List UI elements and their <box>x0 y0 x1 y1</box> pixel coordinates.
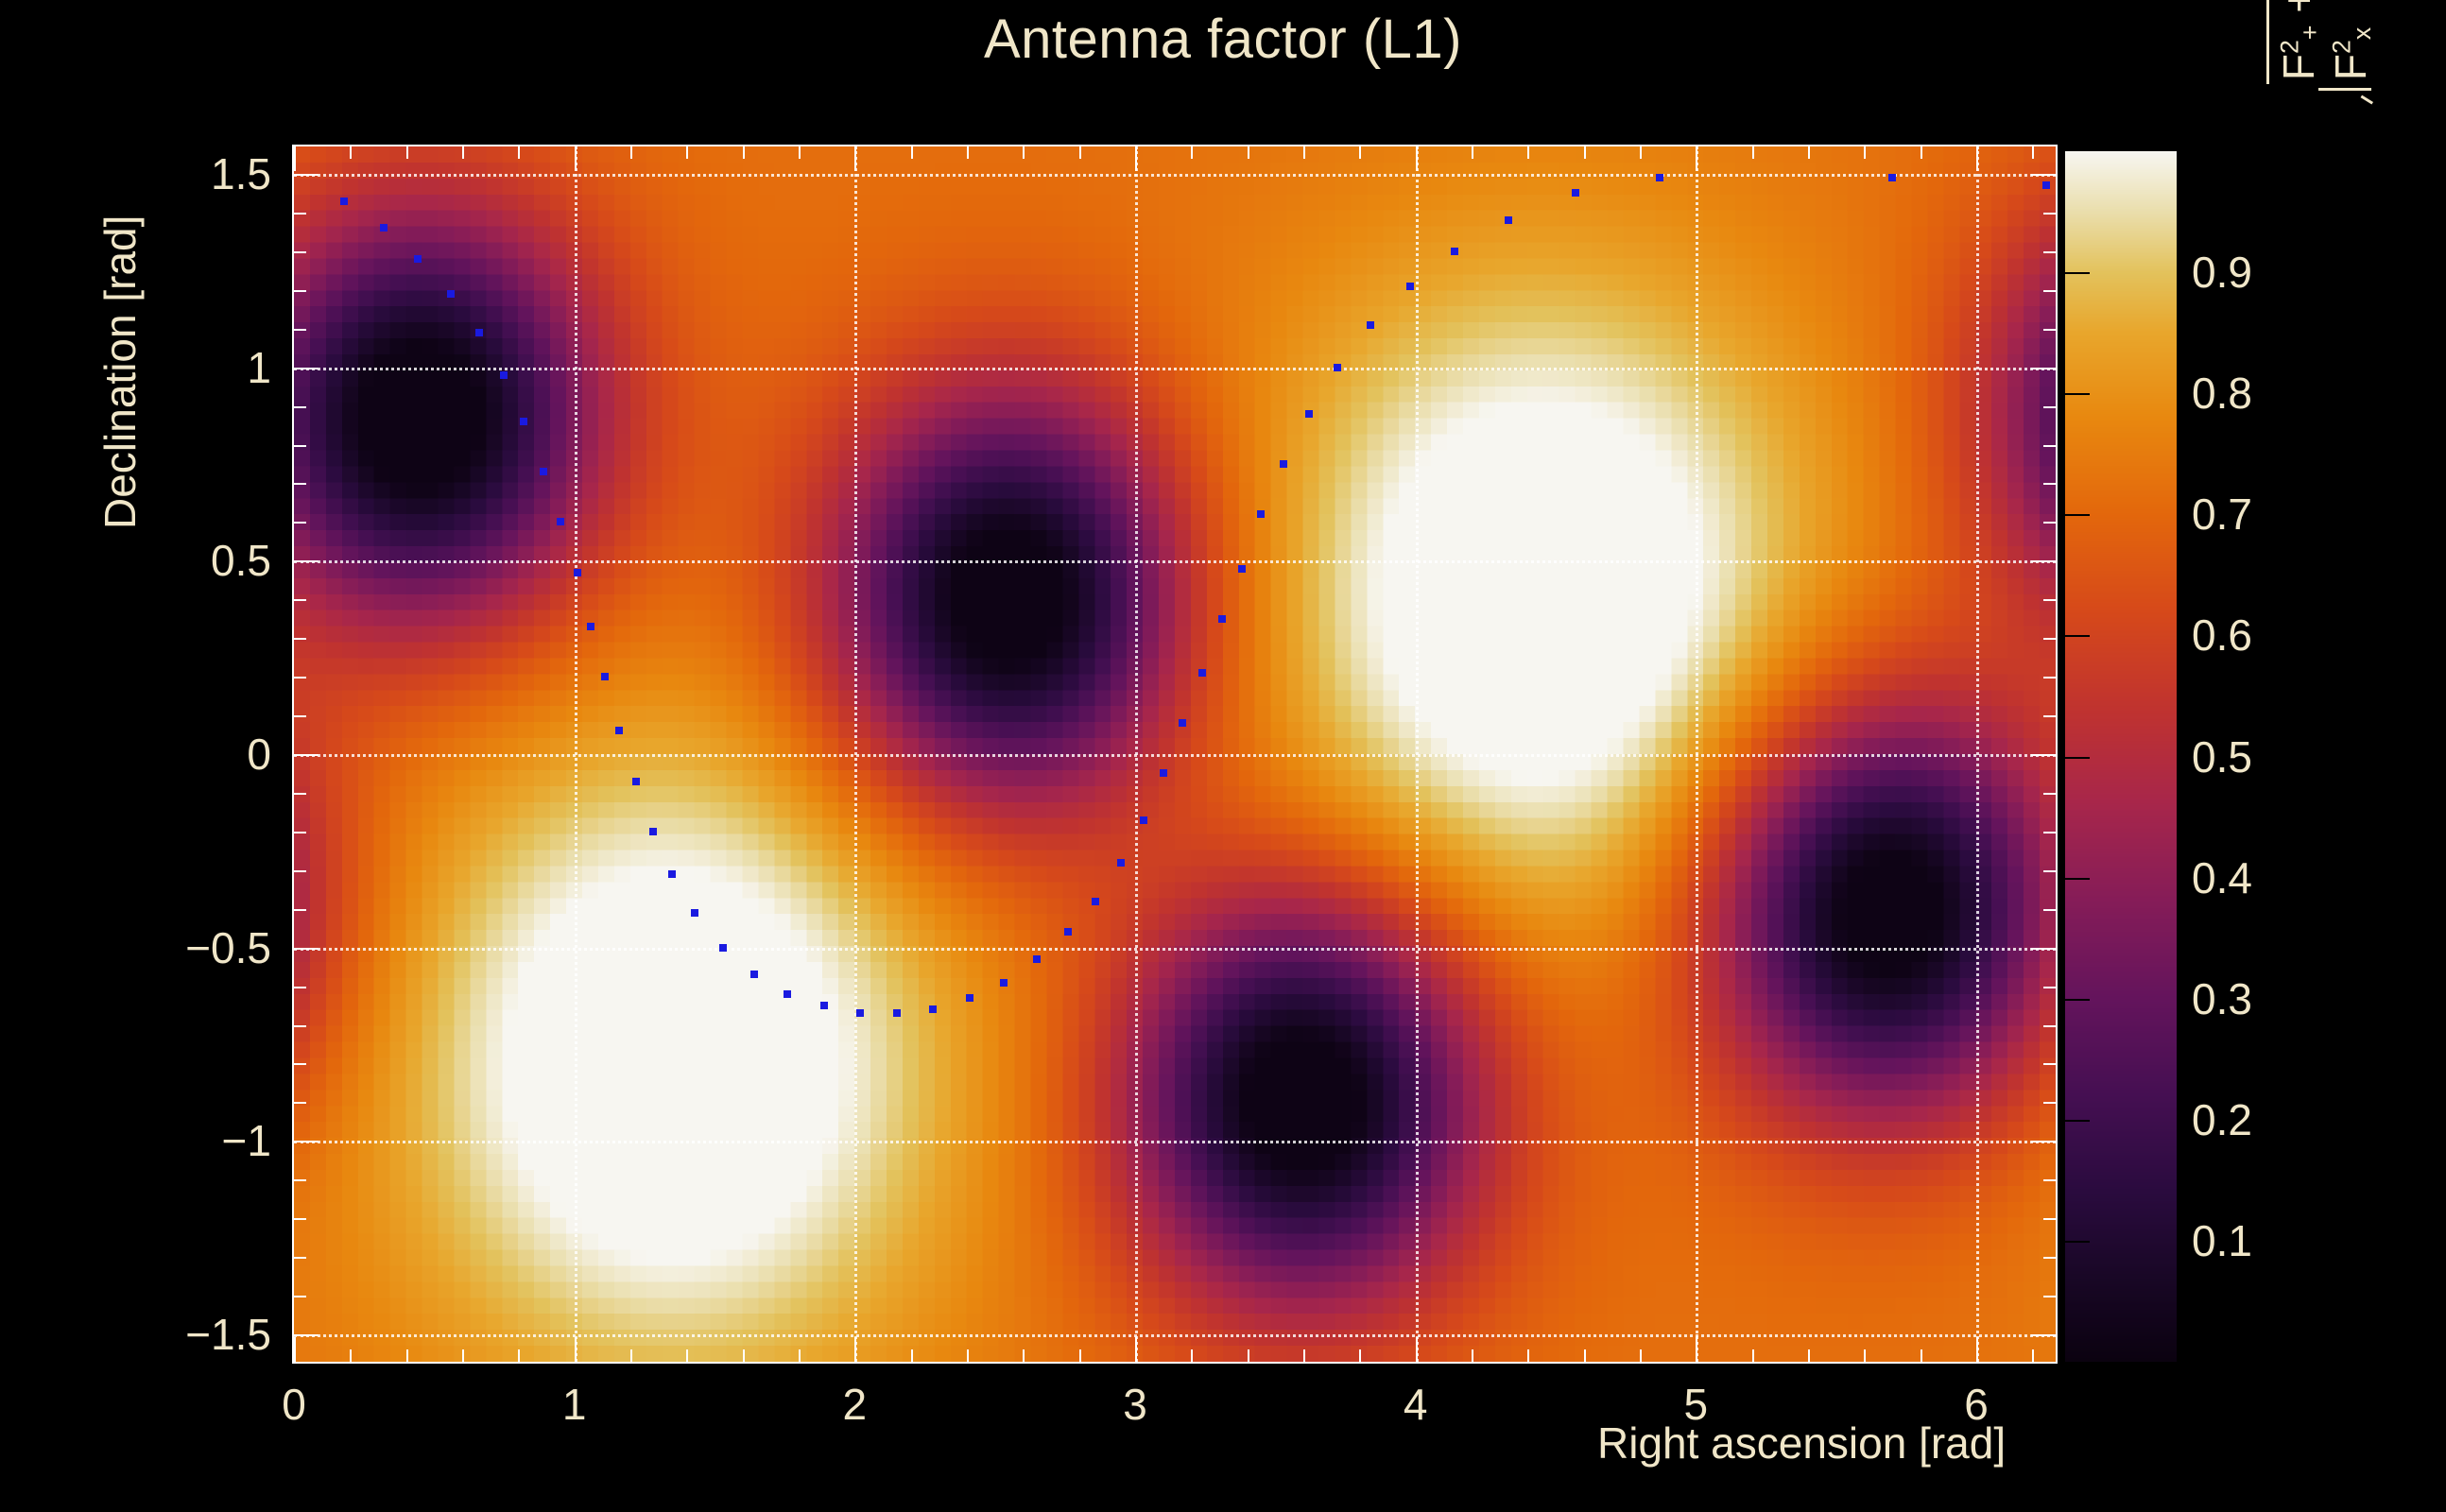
curve-marker-24 <box>966 994 973 1002</box>
y-tick-minor--1.3 <box>294 1257 306 1259</box>
f-plus-symbol: F2+ <box>2274 26 2323 81</box>
y-tick-label-1: −1 <box>222 1115 271 1166</box>
y-tick-right-minor-0.3 <box>2043 638 2056 640</box>
y-tick-right-minor--0.3 <box>2043 870 2056 872</box>
grid-line-horizontal-3 <box>294 754 2056 757</box>
colorbar-tick-6 <box>2065 514 2090 516</box>
y-tick-right-minor--1.4 <box>2043 1296 2056 1297</box>
f-cross-symbol: F2x <box>2326 27 2375 80</box>
x-tick-top-minor-2 <box>406 146 408 159</box>
x-tick-top-2 <box>854 146 856 171</box>
sqrt-expression: F2+ + F2x <box>2266 0 2377 104</box>
colorbar-tick-label-1: 0.2 <box>2192 1094 2252 1145</box>
curve-marker-44 <box>1572 189 1579 197</box>
x-tick-top-minor-12 <box>967 146 969 159</box>
x-tick-top-minor-17 <box>1248 146 1249 159</box>
grid-line-horizontal-2 <box>294 948 2056 951</box>
colorbar-tick-label-6: 0.7 <box>2192 489 2252 540</box>
y-tick-major-6 <box>294 174 319 176</box>
x-tick-minor-24 <box>1640 1349 1642 1362</box>
x-tick-top-4 <box>1416 146 1418 171</box>
y-tick-minor--0.1 <box>294 793 306 795</box>
y-tick-major-5 <box>294 368 319 369</box>
radicand: F2+ + F2x <box>2266 0 2377 84</box>
curve-marker-45 <box>1656 174 1663 181</box>
x-tick-minor-19 <box>1359 1349 1361 1362</box>
colorbar-tick-label-5: 0.6 <box>2192 610 2252 661</box>
y-tick-major-0 <box>294 1334 319 1336</box>
y-tick-right-minor--0.9 <box>2043 1102 2056 1104</box>
curve-marker-32 <box>1179 719 1186 727</box>
x-tick-top-minor-13 <box>1023 146 1025 159</box>
curve-marker-42 <box>1451 248 1458 255</box>
y-tick-minor--0.2 <box>294 832 306 833</box>
y-tick-minor--0.3 <box>294 870 306 872</box>
x-tick-major-0 <box>294 1337 296 1362</box>
curve-marker-46 <box>1888 174 1896 181</box>
x-tick-major-3 <box>1135 1337 1137 1362</box>
x-tick-minor-2 <box>406 1349 408 1362</box>
x-tick-major-6 <box>1976 1337 1978 1362</box>
y-tick-minor--0.8 <box>294 1063 306 1065</box>
y-tick-right-0 <box>2031 1334 2056 1336</box>
y-tick-right-5 <box>2031 368 2056 369</box>
curve-marker-13 <box>632 778 640 785</box>
y-tick-label-0: −1.5 <box>185 1309 271 1360</box>
frame-top <box>292 145 2058 146</box>
curve-marker-36 <box>1257 510 1265 518</box>
x-tick-minor-16 <box>1191 1349 1193 1362</box>
x-tick-minor-22 <box>1527 1349 1529 1362</box>
x-tick-top-minor-14 <box>1079 146 1081 159</box>
curve-marker-47 <box>2042 181 2050 189</box>
colorbar-tick-4 <box>2065 757 2090 759</box>
x-tick-top-minor-26 <box>1752 146 1754 159</box>
x-tick-top-6 <box>1976 146 1978 171</box>
curve-marker-17 <box>719 944 727 952</box>
curve-marker-30 <box>1140 816 1147 824</box>
colorbar-tick-label-7: 0.8 <box>2192 368 2252 419</box>
x-tick-top-minor-11 <box>911 146 913 159</box>
y-tick-label-6: 1.5 <box>211 148 271 199</box>
x-tick-minor-1 <box>350 1349 352 1362</box>
x-tick-minor-21 <box>1472 1349 1473 1362</box>
x-tick-minor-8 <box>743 1349 745 1362</box>
x-tick-top-minor-4 <box>518 146 520 159</box>
x-tick-minor-18 <box>1303 1349 1305 1362</box>
x-axis-title: Right ascension [rad] <box>1597 1417 2006 1469</box>
x-tick-top-minor-27 <box>1808 146 1810 159</box>
y-tick-right-minor--0.2 <box>2043 832 2056 833</box>
x-tick-top-minor-31 <box>2032 146 2034 159</box>
grid-line-horizontal-1 <box>294 1141 2056 1143</box>
curve-marker-3 <box>447 290 455 298</box>
y-tick-right-minor--1.3 <box>2043 1257 2056 1259</box>
y-tick-minor-0.9 <box>294 406 306 408</box>
y-tick-label-2: −0.5 <box>185 922 271 973</box>
x-tick-minor-17 <box>1248 1349 1249 1362</box>
y-tick-minor--0.6 <box>294 987 306 988</box>
y-tick-minor--1.1 <box>294 1179 306 1181</box>
y-tick-major-4 <box>294 560 319 562</box>
curve-marker-6 <box>520 418 527 425</box>
curve-marker-41 <box>1406 283 1414 290</box>
y-tick-right-3 <box>2031 754 2056 756</box>
x-tick-top-3 <box>1135 146 1137 171</box>
x-tick-minor-31 <box>2032 1349 2034 1362</box>
chart-canvas: Antenna factor (L1) 0123456 −1.5−1−0.500… <box>0 0 2446 1512</box>
x-tick-top-minor-1 <box>350 146 352 159</box>
x-tick-label-4: 4 <box>1404 1379 1428 1430</box>
curve-marker-43 <box>1505 216 1512 224</box>
x-tick-minor-27 <box>1808 1349 1810 1362</box>
x-tick-top-minor-24 <box>1640 146 1642 159</box>
curve-marker-40 <box>1367 321 1374 329</box>
y-tick-minor--0.9 <box>294 1102 306 1104</box>
colorbar-tick-8 <box>2065 272 2090 274</box>
y-tick-minor-0.8 <box>294 445 306 447</box>
x-tick-top-minor-8 <box>743 146 745 159</box>
curve-marker-26 <box>1033 955 1041 963</box>
grid-line-horizontal-6 <box>294 174 2056 177</box>
curve-marker-33 <box>1198 669 1206 677</box>
y-tick-right-minor-1.1 <box>2043 329 2056 331</box>
x-tick-top-1 <box>575 146 577 171</box>
grid-line-horizontal-5 <box>294 368 2056 370</box>
y-tick-right-minor-1.3 <box>2043 251 2056 253</box>
x-tick-top-minor-29 <box>1921 146 1922 159</box>
curve-marker-16 <box>691 909 698 917</box>
y-tick-right-minor-0.9 <box>2043 406 2056 408</box>
curve-marker-21 <box>856 1009 864 1017</box>
colorbar-tick-label-2: 0.3 <box>2192 973 2252 1024</box>
x-tick-label-2: 2 <box>843 1379 868 1430</box>
y-tick-minor-0.3 <box>294 638 306 640</box>
y-tick-minor-0.1 <box>294 715 306 717</box>
y-tick-right-minor-0.6 <box>2043 522 2056 524</box>
curve-marker-28 <box>1092 898 1099 905</box>
y-tick-right-minor--0.8 <box>2043 1063 2056 1065</box>
grid-line-horizontal-4 <box>294 560 2056 563</box>
y-tick-label-4: 0.5 <box>211 535 271 586</box>
curve-marker-39 <box>1334 364 1341 371</box>
radical-sign-icon <box>2266 84 2377 104</box>
curve-marker-11 <box>601 673 609 680</box>
curve-marker-34 <box>1218 615 1226 623</box>
curve-marker-5 <box>500 371 508 379</box>
y-tick-minor-1.2 <box>294 290 306 292</box>
grid-line-horizontal-0 <box>294 1334 2056 1337</box>
y-tick-minor-0.6 <box>294 522 306 524</box>
frame-right <box>2056 146 2058 1362</box>
colorbar-tick-label-0: 0.1 <box>2192 1215 2252 1266</box>
x-tick-major-4 <box>1416 1337 1418 1362</box>
curve-marker-4 <box>475 329 483 336</box>
curve-marker-27 <box>1064 928 1072 936</box>
y-tick-right-4 <box>2031 560 2056 562</box>
y-tick-right-minor--0.7 <box>2043 1025 2056 1027</box>
x-tick-top-minor-16 <box>1191 146 1193 159</box>
x-tick-major-2 <box>854 1337 856 1362</box>
y-tick-right-minor-0.7 <box>2043 483 2056 485</box>
y-tick-right-minor--1.2 <box>2043 1218 2056 1220</box>
y-tick-right-2 <box>2031 948 2056 950</box>
y-tick-right-minor-1.4 <box>2043 213 2056 215</box>
curve-marker-25 <box>1000 979 1008 987</box>
y-tick-minor--0.7 <box>294 1025 306 1027</box>
x-tick-minor-28 <box>1864 1349 1866 1362</box>
colorbar-tick-label-3: 0.4 <box>2192 852 2252 903</box>
x-tick-top-minor-21 <box>1472 146 1473 159</box>
curve-marker-22 <box>893 1009 901 1017</box>
curve-marker-18 <box>750 971 758 978</box>
y-tick-minor--0.4 <box>294 909 306 911</box>
x-tick-top-minor-18 <box>1303 146 1305 159</box>
curve-marker-23 <box>929 1005 937 1013</box>
x-tick-top-minor-19 <box>1359 146 1361 159</box>
x-tick-label-1: 1 <box>562 1379 587 1430</box>
y-tick-major-1 <box>294 1141 319 1143</box>
x-tick-label-3: 3 <box>1123 1379 1147 1430</box>
y-axis-title: Declination [rad] <box>95 215 146 529</box>
y-tick-minor-1.1 <box>294 329 306 331</box>
x-tick-major-5 <box>1696 1337 1697 1362</box>
curve-marker-7 <box>540 468 547 475</box>
curve-marker-37 <box>1280 460 1287 468</box>
frame-bottom <box>292 1362 2058 1364</box>
y-tick-label-5: 1 <box>247 342 271 393</box>
y-tick-right-minor-1.2 <box>2043 290 2056 292</box>
colorbar-title: F2+ + F2x <box>2266 0 2387 104</box>
y-tick-major-3 <box>294 754 319 756</box>
curve-marker-29 <box>1117 859 1125 867</box>
x-tick-top-minor-3 <box>462 146 464 159</box>
colorbar-tick-5 <box>2065 635 2090 637</box>
y-tick-minor-1.3 <box>294 251 306 253</box>
x-tick-minor-26 <box>1752 1349 1754 1362</box>
x-tick-minor-6 <box>630 1349 632 1362</box>
colorbar-tick-label-8: 0.9 <box>2192 247 2252 298</box>
x-tick-minor-14 <box>1079 1349 1081 1362</box>
x-tick-label-0: 0 <box>282 1379 306 1430</box>
y-tick-minor-0.4 <box>294 599 306 601</box>
y-tick-right-minor--0.1 <box>2043 793 2056 795</box>
y-tick-right-1 <box>2031 1141 2056 1143</box>
x-tick-top-minor-28 <box>1864 146 1866 159</box>
frame-left <box>292 146 294 1362</box>
y-tick-right-minor-0.1 <box>2043 715 2056 717</box>
curve-marker-19 <box>784 990 791 998</box>
curve-marker-10 <box>587 623 594 630</box>
curve-marker-0 <box>340 198 348 205</box>
curve-marker-9 <box>574 569 581 576</box>
x-tick-minor-29 <box>1921 1349 1922 1362</box>
colorbar-tick-label-4: 0.5 <box>2192 731 2252 782</box>
x-tick-minor-9 <box>799 1349 801 1362</box>
curve-marker-14 <box>649 828 657 835</box>
y-tick-minor-1.4 <box>294 213 306 215</box>
x-tick-top-minor-22 <box>1527 146 1529 159</box>
y-tick-right-minor-0.8 <box>2043 445 2056 447</box>
y-tick-minor-0.7 <box>294 483 306 485</box>
y-tick-right-minor--1.1 <box>2043 1179 2056 1181</box>
curve-marker-2 <box>414 255 422 263</box>
colorbar-tick-2 <box>2065 999 2090 1001</box>
x-tick-minor-11 <box>911 1349 913 1362</box>
y-tick-label-3: 0 <box>247 729 271 780</box>
x-tick-top-minor-6 <box>630 146 632 159</box>
y-tick-minor-0.2 <box>294 677 306 679</box>
x-tick-minor-13 <box>1023 1349 1025 1362</box>
colorbar-tick-7 <box>2065 393 2090 395</box>
x-tick-major-1 <box>575 1337 577 1362</box>
x-tick-minor-7 <box>686 1349 688 1362</box>
y-tick-major-2 <box>294 948 319 950</box>
y-tick-right-minor--0.4 <box>2043 909 2056 911</box>
colorbar-tick-1 <box>2065 1120 2090 1122</box>
curve-marker-20 <box>820 1002 828 1009</box>
y-tick-minor--1.4 <box>294 1296 306 1297</box>
curve-marker-15 <box>668 870 676 878</box>
x-tick-top-minor-9 <box>799 146 801 159</box>
heatmap-plot-area <box>294 146 2056 1362</box>
x-tick-top-minor-23 <box>1584 146 1586 159</box>
y-tick-right-minor-0.2 <box>2043 677 2056 679</box>
y-tick-minor--1.2 <box>294 1218 306 1220</box>
x-tick-minor-4 <box>518 1349 520 1362</box>
plus-operator: + <box>2274 0 2323 26</box>
curve-marker-31 <box>1160 769 1167 777</box>
curve-marker-38 <box>1305 410 1313 418</box>
x-tick-top-5 <box>1696 146 1697 171</box>
curve-marker-35 <box>1238 565 1246 573</box>
x-tick-top-0 <box>294 146 296 171</box>
y-tick-right-minor--0.6 <box>2043 987 2056 988</box>
curve-marker-8 <box>557 518 564 525</box>
x-tick-top-minor-7 <box>686 146 688 159</box>
y-tick-right-6 <box>2031 174 2056 176</box>
colorbar-tick-0 <box>2065 1241 2090 1243</box>
x-tick-minor-3 <box>462 1349 464 1362</box>
curve-marker-1 <box>380 224 388 232</box>
x-tick-minor-23 <box>1584 1349 1586 1362</box>
x-tick-minor-12 <box>967 1349 969 1362</box>
colorbar-tick-3 <box>2065 878 2090 880</box>
y-tick-right-minor-0.4 <box>2043 599 2056 601</box>
curve-marker-12 <box>615 727 623 734</box>
chart-title: Antenna factor (L1) <box>0 8 2446 71</box>
